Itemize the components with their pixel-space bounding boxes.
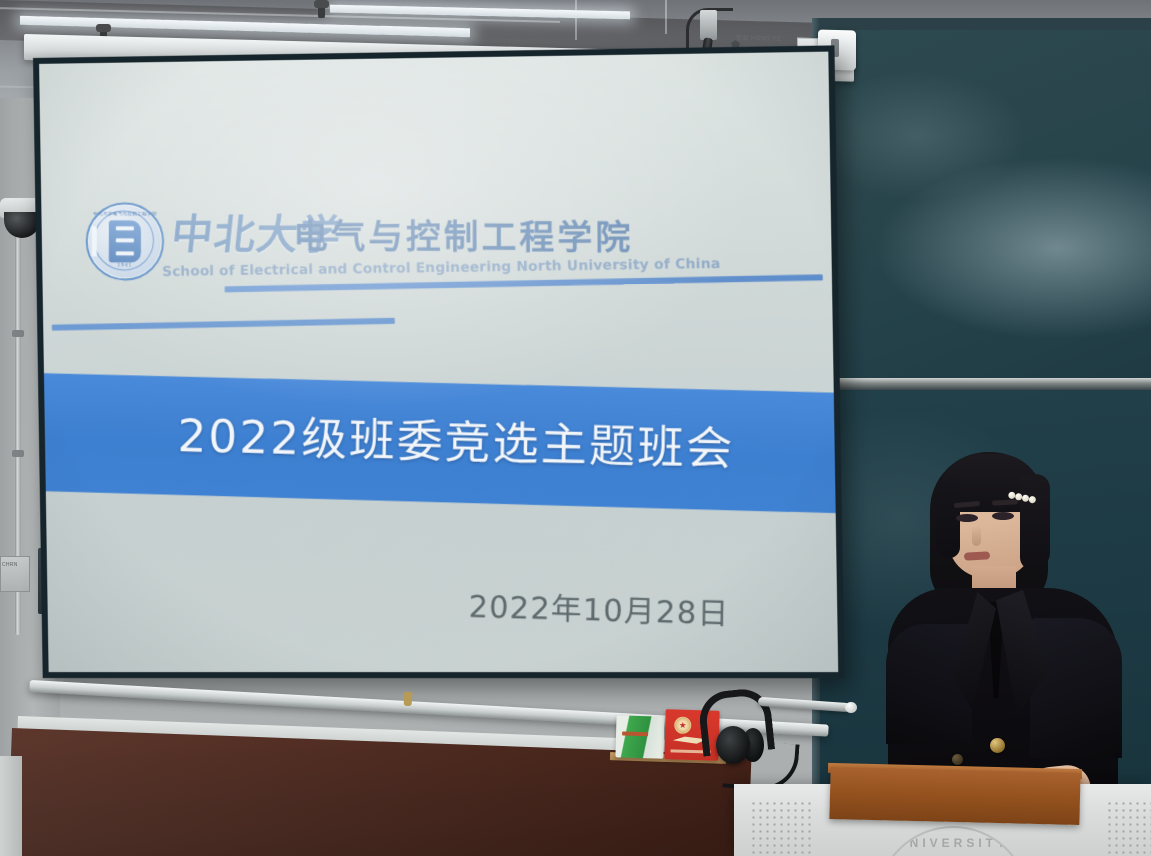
emblem-seal-icon <box>674 717 691 734</box>
crest-letter-e-icon <box>116 226 134 256</box>
green-box[interactable] <box>615 715 664 758</box>
podium-emblem-text: UNIVERSITY <box>878 836 1028 850</box>
crest-ring-text-bottom: 1941 <box>88 262 162 268</box>
slide-date: 2022年10月28日 <box>468 582 730 634</box>
screen-track-brand-label: 宏业 HONG YE <box>736 35 781 44</box>
projection-screen-pull-hook[interactable] <box>404 692 413 706</box>
conduit-clip <box>12 330 24 337</box>
presenter-blazer-button <box>952 754 963 765</box>
presenter-hair-side-right <box>1020 474 1050 570</box>
crest-ring-text-top: 中北大学电气与控制工程学院 <box>88 211 162 217</box>
microphone-clamp <box>700 10 717 40</box>
presenter-mouth <box>964 551 990 560</box>
presentation-slide: 中北大学电气与控制工程学院 1941 中北大学 电气与控制工程学院 School… <box>39 52 838 672</box>
slide-department-name: 电气与控制工程学院 <box>293 209 633 260</box>
lecture-desk-left-edge <box>0 756 22 856</box>
ceiling-grid-line <box>575 0 577 40</box>
presenter-shoulder-right <box>1030 618 1122 758</box>
podium-speaker-grille <box>750 800 812 856</box>
screen-vignette <box>39 52 838 672</box>
projector-hotspot-glow <box>39 52 838 672</box>
classroom-scene: CHRN 宏业 HONG YE 中北大学电气与控制工程学院 <box>0 0 1151 856</box>
conduit-clip <box>12 450 24 457</box>
gooseneck-microphone-tip <box>845 702 857 713</box>
university-crest-logo: 中北大学电气与控制工程学院 1941 <box>86 202 164 280</box>
ceiling-grid-line <box>665 0 667 34</box>
projection-screen-surface: 中北大学电气与控制工程学院 1941 中北大学 电气与控制工程学院 School… <box>39 52 838 672</box>
chalkboard-chalk-rail <box>816 378 1151 390</box>
crest-shield-bar <box>92 226 97 256</box>
presenter-nose <box>972 526 981 546</box>
presenter-eye-left <box>956 514 978 522</box>
slide-divider-secondary <box>52 318 395 331</box>
presenter-eye-right <box>992 512 1014 520</box>
podium-wood-front <box>829 767 1080 825</box>
presenter-blazer-button <box>990 738 1005 753</box>
chalkboard-upper-panel <box>818 30 1151 382</box>
wall-plate-label: CHRN <box>2 562 18 568</box>
lamp-mount-cap <box>314 0 329 8</box>
projection-screen: 中北大学电气与控制工程学院 1941 中北大学 电气与控制工程学院 School… <box>33 45 845 678</box>
lamp-mount-cap <box>96 24 111 32</box>
podium-speaker-grille <box>1106 800 1151 856</box>
